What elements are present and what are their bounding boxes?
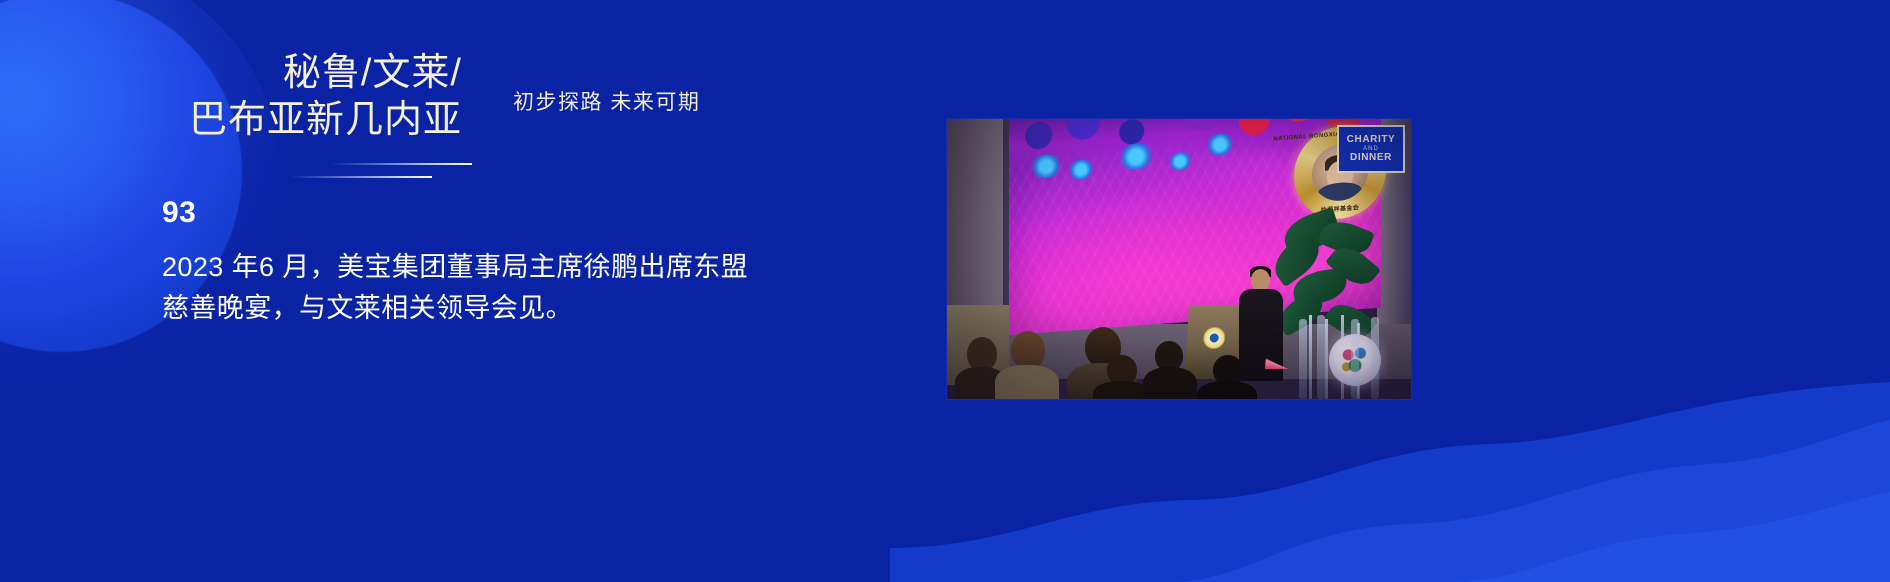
photo-content: NATIONAL RONGXIANG XU FOUNDATION 徐荣祥基金会 … bbox=[947, 119, 1411, 399]
headline-line-1: 秘鲁/文莱/ bbox=[162, 50, 462, 97]
headline-line-2: 巴布亚新几内亚 bbox=[162, 97, 462, 144]
headline: 秘鲁/文莱/ 巴布亚新几内亚 bbox=[162, 50, 462, 144]
index-number: 93 bbox=[162, 196, 196, 230]
body-line-2: 慈善晚宴，与文莱相关领导会见。 bbox=[162, 288, 842, 329]
headline-rules bbox=[290, 163, 470, 187]
rule-line-upper bbox=[330, 163, 472, 165]
event-photo: NATIONAL RONGXIANG XU FOUNDATION 徐荣祥基金会 … bbox=[947, 119, 1411, 399]
photo-vignette bbox=[947, 119, 1411, 399]
text-column: 秘鲁/文莱/ 巴布亚新几内亚 初步探路 未来可期 93 2023 年6 月，美宝… bbox=[0, 0, 900, 582]
presentation-slide: 秘鲁/文莱/ 巴布亚新几内亚 初步探路 未来可期 93 2023 年6 月，美宝… bbox=[0, 0, 1890, 582]
subtitle-text: 初步探路 未来可期 bbox=[513, 86, 700, 116]
body-line-1: 2023 年6 月，美宝集团董事局主席徐鹏出席东盟 bbox=[162, 247, 842, 288]
rule-line-lower bbox=[290, 176, 432, 178]
body-paragraph: 2023 年6 月，美宝集团董事局主席徐鹏出席东盟 慈善晚宴，与文莱相关领导会见… bbox=[162, 247, 842, 329]
